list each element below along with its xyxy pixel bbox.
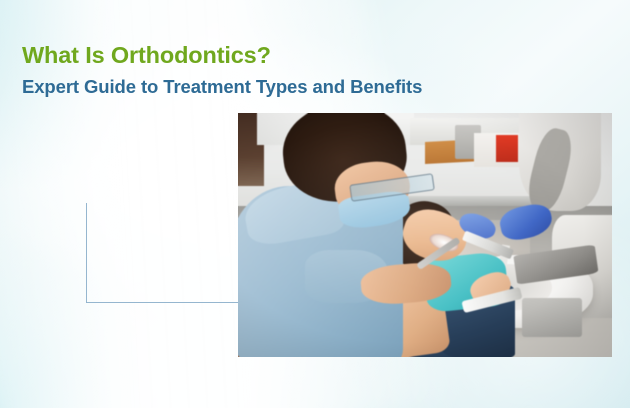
- orthodontics-article-banner: What Is Orthodontics? Expert Guide to Tr…: [0, 0, 630, 408]
- heading-block: What Is Orthodontics? Expert Guide to Tr…: [22, 40, 422, 99]
- corner-bracket-line: [86, 203, 240, 303]
- photo-soft-focus: [238, 113, 612, 357]
- bracket-vertical-line: [86, 203, 87, 303]
- page-subtitle: Expert Guide to Treatment Types and Bene…: [22, 75, 422, 99]
- bracket-horizontal-line: [86, 302, 240, 303]
- dental-clinic-scene: [238, 113, 612, 357]
- background-tint-bottom-left: [0, 237, 189, 408]
- page-title: What Is Orthodontics?: [22, 40, 422, 70]
- hero-photo: [238, 113, 612, 357]
